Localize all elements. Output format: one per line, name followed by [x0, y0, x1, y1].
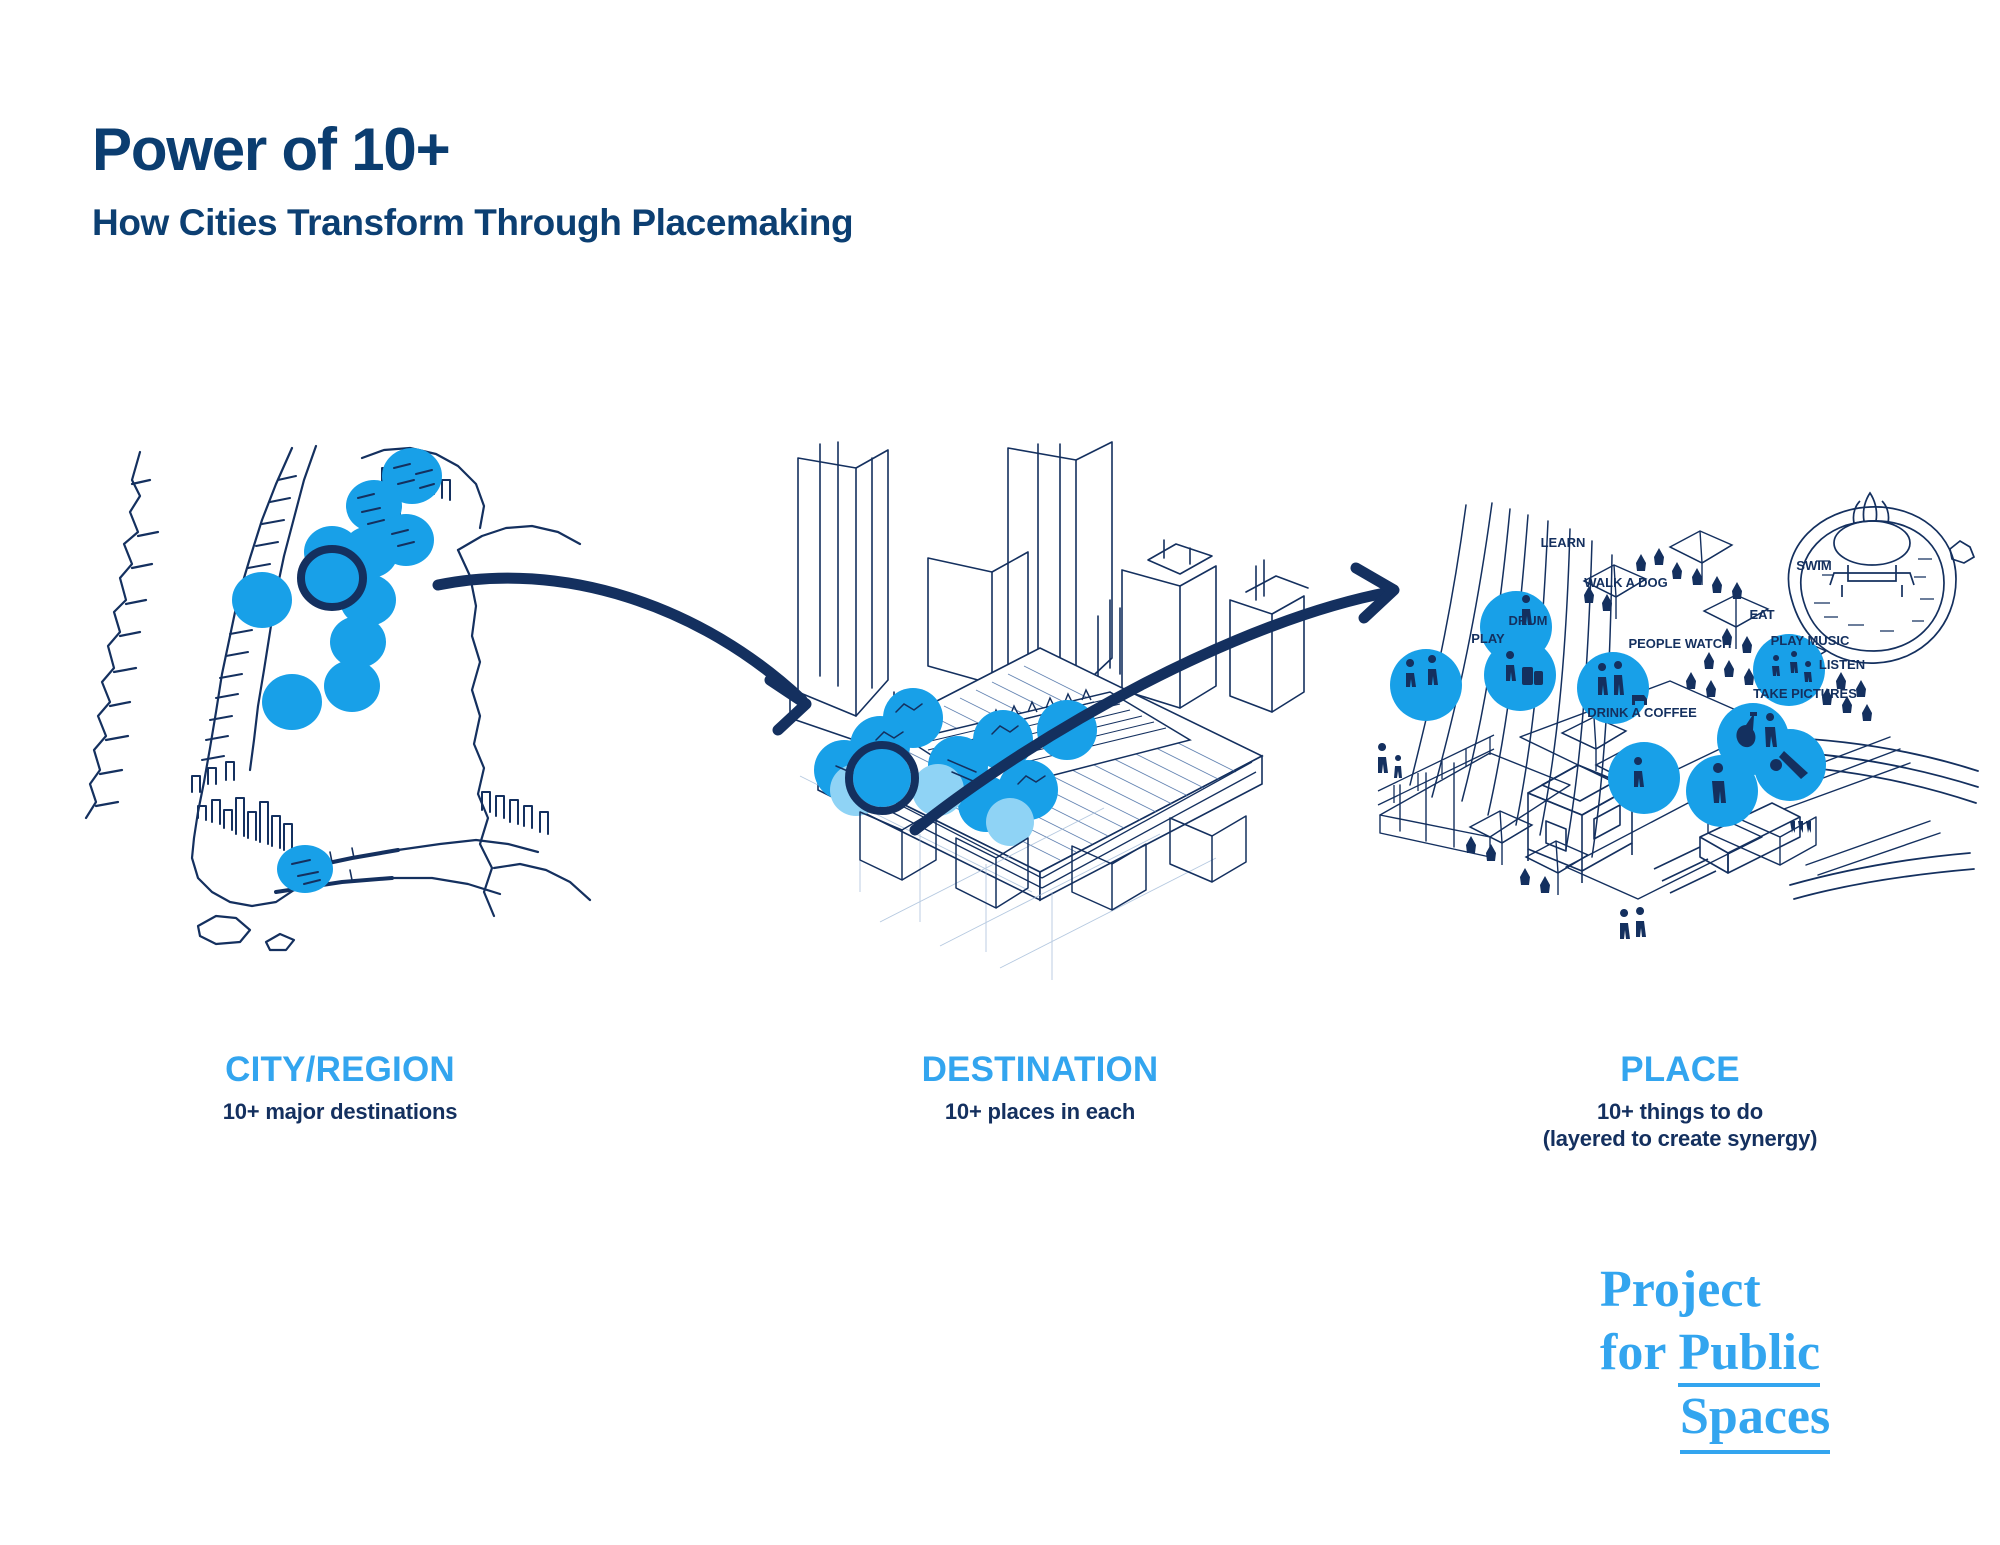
- caption-heading: PLACE: [1370, 1052, 1990, 1089]
- caption-subline: 10+ places in each: [760, 1098, 1320, 1126]
- caption-destination: DESTINATION 10+ places in each: [760, 1052, 1320, 1125]
- logo-word-for: for: [1600, 1324, 1678, 1381]
- activity-label: DRUM: [1509, 613, 1548, 628]
- logo-line-spaces: Spaces: [1600, 1385, 1830, 1454]
- activity-label: TAKE PICTURES: [1753, 686, 1857, 701]
- activity-label: LEARN: [1541, 535, 1586, 550]
- city-highlighted-dot[interactable]: [301, 549, 363, 607]
- logo-word-public: Public: [1678, 1324, 1820, 1387]
- illustration-city-region: [80, 440, 600, 1000]
- pps-logo[interactable]: Project for Public Spaces: [1600, 1258, 1830, 1454]
- caption-heading: CITY/REGION: [80, 1052, 600, 1089]
- illustration-destination: [760, 440, 1320, 1000]
- logo-word-spaces: Spaces: [1680, 1385, 1830, 1454]
- caption-place: PLACE 10+ things to do (layered to creat…: [1370, 1052, 1990, 1153]
- activity-label: SWIM: [1796, 558, 1831, 573]
- activity-label: LISTEN: [1819, 657, 1865, 672]
- illustration-place: PLAY LEARN DRUM WALK A DOG PEOPLE WATCH …: [1370, 440, 1990, 1000]
- destination-highlighted-dot[interactable]: [849, 745, 915, 811]
- activity-label: PEOPLE WATCH: [1628, 636, 1731, 651]
- activity-label: EAT: [1749, 607, 1774, 622]
- header: Power of 10+ How Cities Transform Throug…: [92, 118, 853, 244]
- activity-label: PLAY: [1471, 631, 1505, 646]
- infographic-canvas: Power of 10+ How Cities Transform Throug…: [0, 0, 2000, 1545]
- logo-line-project: Project: [1600, 1258, 1830, 1321]
- caption-subline: (layered to create synergy): [1370, 1125, 1990, 1153]
- activity-label: DRINK A COFFEE: [1587, 705, 1697, 720]
- activity-label: PLAY MUSIC: [1771, 633, 1850, 648]
- page-subtitle: How Cities Transform Through Placemaking: [92, 203, 853, 244]
- caption-city-region: CITY/REGION 10+ major destinations: [80, 1052, 600, 1125]
- caption-subline: 10+ major destinations: [80, 1098, 600, 1126]
- page-title: Power of 10+: [92, 118, 853, 181]
- activity-label: WALK A DOG: [1584, 575, 1668, 590]
- caption-subline: 10+ things to do: [1370, 1098, 1990, 1126]
- caption-heading: DESTINATION: [760, 1052, 1320, 1089]
- logo-line-for-public: for Public: [1600, 1321, 1830, 1384]
